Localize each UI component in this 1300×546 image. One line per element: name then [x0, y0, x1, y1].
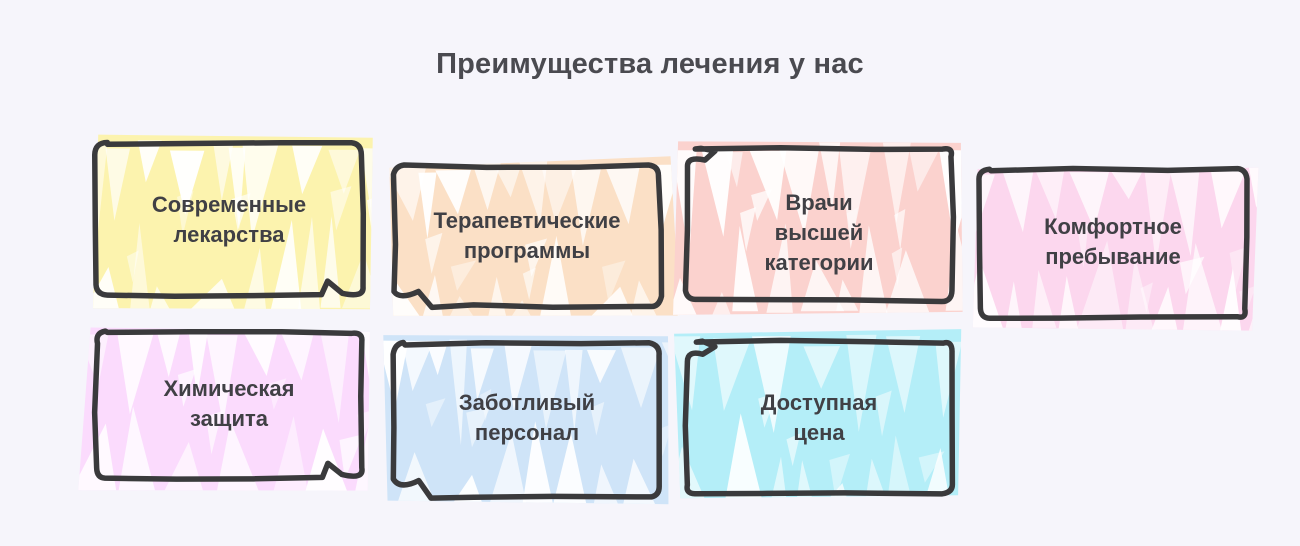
benefit-card-khimicheskaya-zashchita[interactable]: Химическая защита	[96, 332, 362, 478]
benefit-card-vrachi-vysshey-kategorii[interactable]: Врачи высшей категории	[686, 148, 952, 300]
benefit-card-komfortnoe-prebyvanie[interactable]: Комфортное пребывание	[980, 170, 1246, 318]
benefit-card-zabotlivyy-personal[interactable]: Заботливый персонал	[394, 344, 660, 496]
benefit-card-dostupnaya-tsena[interactable]: Доступная цена	[686, 342, 952, 494]
card-fill	[668, 141, 982, 320]
benefit-card-sovremennye-lekarstva[interactable]: Современные лекарства	[96, 144, 362, 296]
card-sketch-shape	[368, 140, 686, 332]
card-sketch-shape	[660, 316, 978, 520]
card-sketch-shape	[70, 118, 388, 322]
card-sketch-shape	[954, 144, 1272, 344]
card-sketch-shape	[70, 306, 388, 504]
benefit-card-terapevticheskie-programmy[interactable]: Терапевтические программы	[394, 166, 660, 306]
card-sketch-shape	[660, 122, 978, 326]
benefits-card-grid: Современные лекарстваТерапевтические про…	[0, 0, 1300, 546]
card-sketch-shape	[368, 318, 686, 522]
